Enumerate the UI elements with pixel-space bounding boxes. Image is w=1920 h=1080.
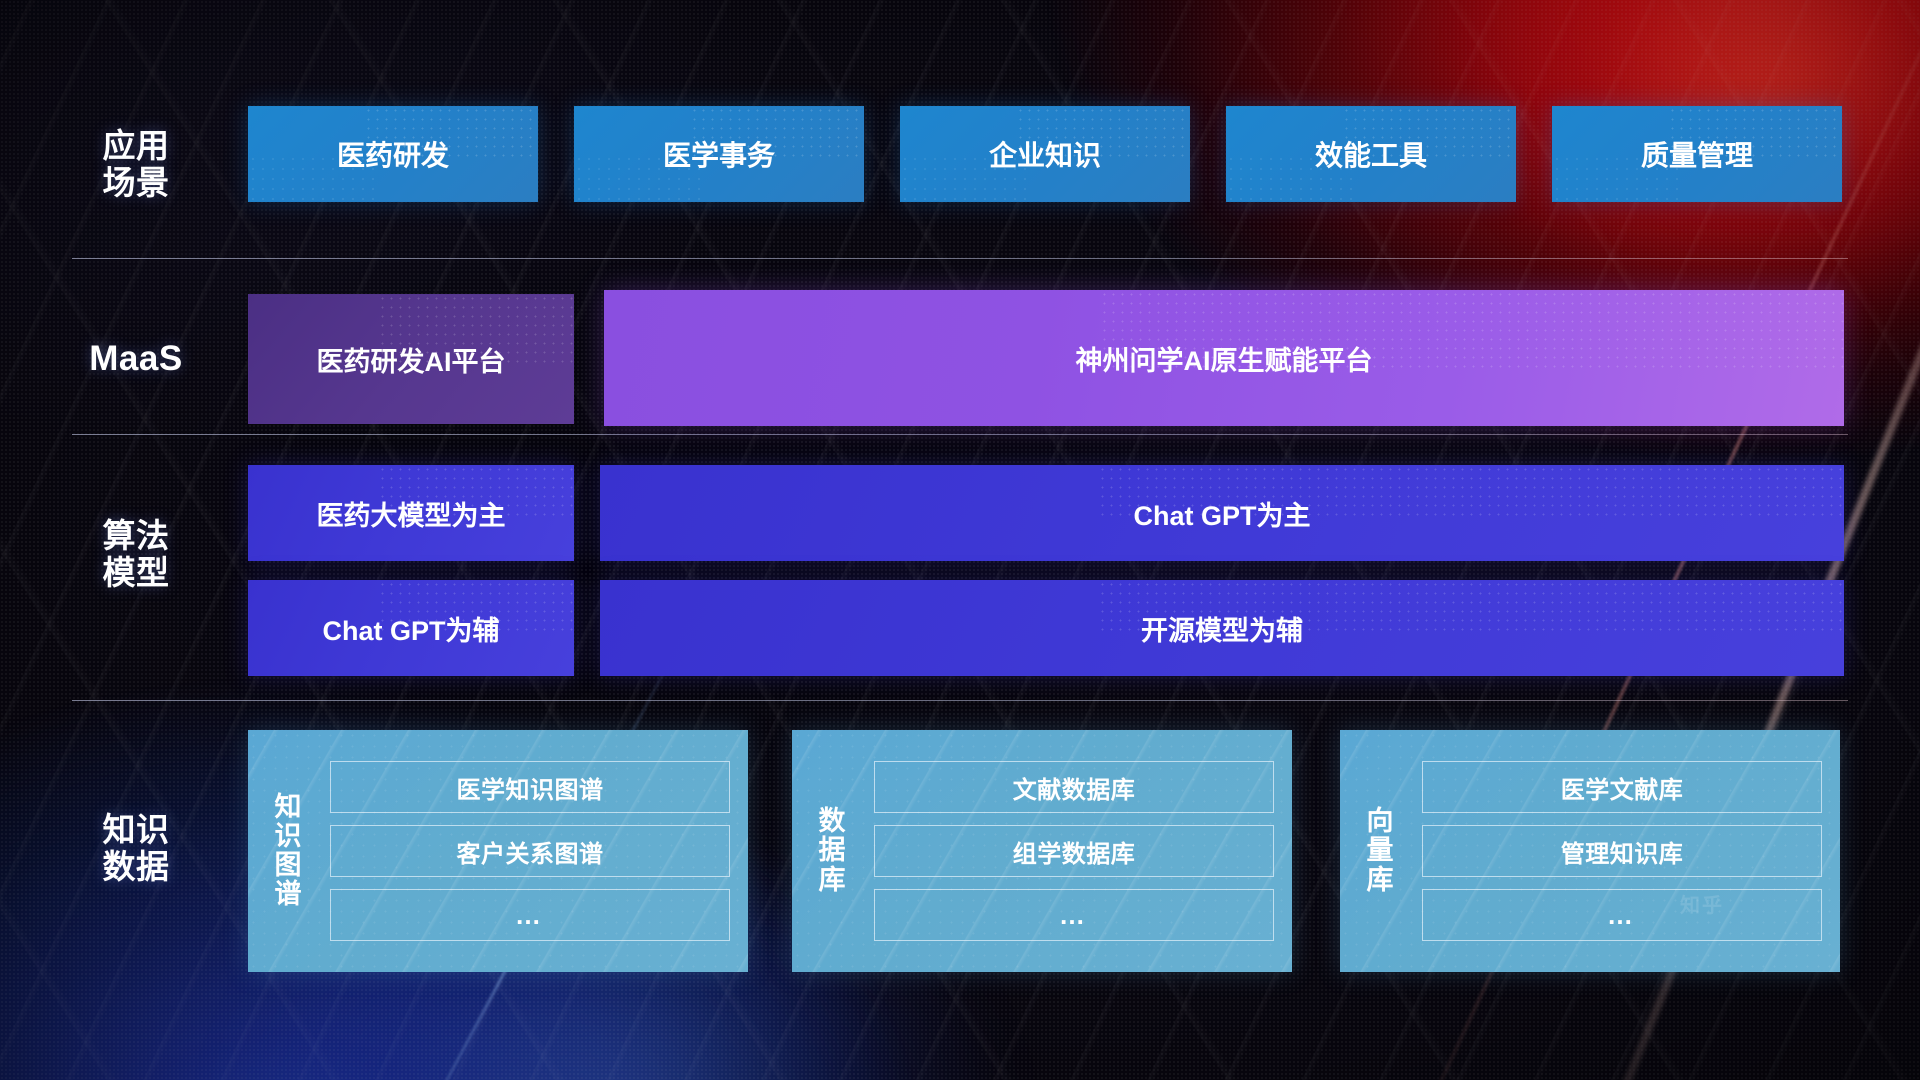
knowledge-group-title-database: 数 据 库 bbox=[792, 730, 866, 972]
knowledge-group-title-vector-store: 向 量 库 bbox=[1340, 730, 1414, 972]
scene-box-pharma-rd[interactable]: 医药研发 bbox=[248, 106, 538, 202]
knowledge-item-list: 文献数据库 组学数据库 … bbox=[866, 730, 1292, 972]
row-label-line: 算法 bbox=[72, 518, 200, 555]
row-label-line: 知识 bbox=[72, 812, 200, 849]
algo-box-opensource-secondary[interactable]: 开源模型为辅 bbox=[600, 580, 1844, 676]
knowledge-item-omics-db[interactable]: 组学数据库 bbox=[874, 825, 1274, 877]
row-label-application-scenarios: 应用 场景 bbox=[72, 128, 200, 202]
title-char: 库 bbox=[819, 866, 846, 895]
title-char: 向 bbox=[1367, 807, 1394, 836]
divider-1 bbox=[72, 258, 1848, 259]
knowledge-group-database: 数 据 库 文献数据库 组学数据库 … bbox=[792, 730, 1292, 972]
title-char: 数 bbox=[819, 807, 846, 836]
divider-2 bbox=[72, 434, 1848, 435]
row-label-line: 模型 bbox=[72, 555, 200, 592]
row-label-line: 数据 bbox=[72, 849, 200, 886]
title-char: 库 bbox=[1367, 866, 1394, 895]
title-char: 知 bbox=[275, 793, 302, 822]
knowledge-group-title-knowledge-graph: 知 识 图 谱 bbox=[248, 730, 322, 972]
title-char: 量 bbox=[1367, 836, 1394, 865]
knowledge-item-list: 医学知识图谱 客户关系图谱 … bbox=[322, 730, 748, 972]
knowledge-item-more[interactable]: … bbox=[1422, 889, 1822, 941]
maas-box-pharma-ai-platform[interactable]: 医药研发AI平台 bbox=[248, 294, 574, 424]
knowledge-item-literature-db[interactable]: 文献数据库 bbox=[874, 761, 1274, 813]
architecture-diagram: 应用 场景 医药研发 医学事务 企业知识 效能工具 质量管理 MaaS 医药研发… bbox=[0, 0, 1920, 1080]
knowledge-item-medical-literature[interactable]: 医学文献库 bbox=[1422, 761, 1822, 813]
knowledge-item-medical-kg[interactable]: 医学知识图谱 bbox=[330, 761, 730, 813]
row-label-line: MaaS bbox=[72, 339, 200, 378]
title-char: 谱 bbox=[275, 880, 302, 909]
row-label-knowledge-data: 知识 数据 bbox=[72, 812, 200, 886]
algo-box-chatgpt-secondary[interactable]: Chat GPT为辅 bbox=[248, 580, 574, 676]
knowledge-item-more[interactable]: … bbox=[874, 889, 1274, 941]
scene-box-efficiency-tools[interactable]: 效能工具 bbox=[1226, 106, 1516, 202]
scene-box-enterprise-knowledge[interactable]: 企业知识 bbox=[900, 106, 1190, 202]
title-char: 识 bbox=[275, 822, 302, 851]
knowledge-item-list: 医学文献库 管理知识库 … bbox=[1414, 730, 1840, 972]
knowledge-item-management-knowledge[interactable]: 管理知识库 bbox=[1422, 825, 1822, 877]
row-label-algorithm-model: 算法 模型 bbox=[72, 518, 200, 592]
scene-box-medical-affairs[interactable]: 医学事务 bbox=[574, 106, 864, 202]
row-label-line: 应用 bbox=[72, 128, 200, 165]
maas-box-shenzhou-wenxue-platform[interactable]: 神州问学AI原生赋能平台 bbox=[604, 290, 1844, 426]
knowledge-item-more[interactable]: … bbox=[330, 889, 730, 941]
algo-box-chatgpt-primary[interactable]: Chat GPT为主 bbox=[600, 465, 1844, 561]
knowledge-item-customer-kg[interactable]: 客户关系图谱 bbox=[330, 825, 730, 877]
row-label-maas: MaaS bbox=[72, 339, 200, 378]
scene-box-quality-management[interactable]: 质量管理 bbox=[1552, 106, 1842, 202]
algo-box-pharma-llm-primary[interactable]: 医药大模型为主 bbox=[248, 465, 574, 561]
title-char: 据 bbox=[819, 836, 846, 865]
divider-3 bbox=[72, 700, 1848, 701]
title-char: 图 bbox=[275, 851, 302, 880]
knowledge-group-vector-store: 向 量 库 医学文献库 管理知识库 … bbox=[1340, 730, 1840, 972]
knowledge-group-knowledge-graph: 知 识 图 谱 医学知识图谱 客户关系图谱 … bbox=[248, 730, 748, 972]
row-label-line: 场景 bbox=[72, 165, 200, 202]
